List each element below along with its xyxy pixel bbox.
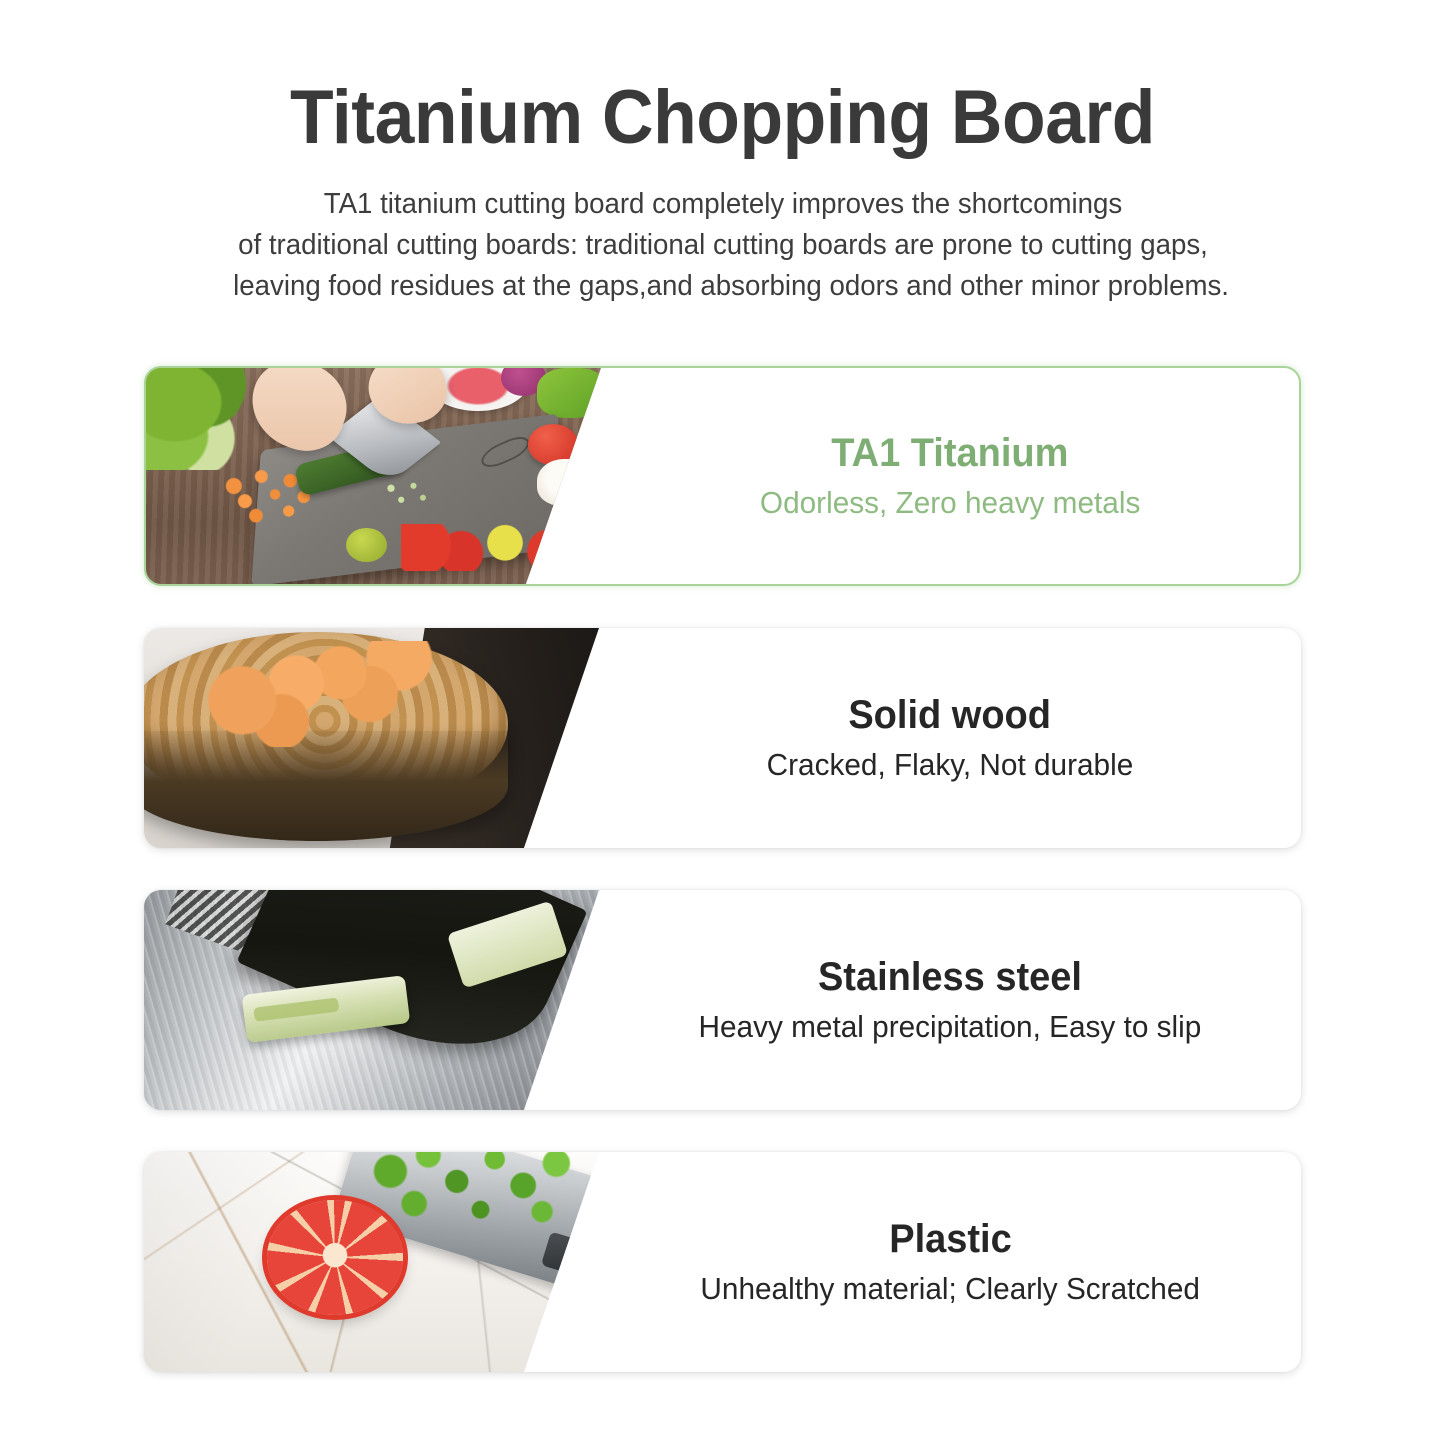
subtitle-line-2: of traditional cutting boards: tradition… — [233, 225, 1213, 266]
comparison-card-list: TA1 Titanium Odorless, Zero heavy metals… — [0, 366, 1445, 1414]
cherry-tomatoes-shape — [401, 524, 601, 572]
card-text-solid-wood: Solid wood Cracked, Flaky, Not durable — [599, 628, 1301, 848]
subtitle-line-3: leaving food residues at the gaps,and ab… — [233, 266, 1213, 307]
comparison-card-solid-wood[interactable]: Solid wood Cracked, Flaky, Not durable — [144, 628, 1301, 848]
card-text-ta1-titanium: TA1 Titanium Odorless, Zero heavy metals — [601, 368, 1299, 584]
knife-on-stainless-steel-photo — [144, 890, 599, 1110]
product-infographic: Titanium Chopping Board TA1 titanium cut… — [0, 0, 1445, 1445]
wood-log-carrot-slices-photo — [144, 628, 599, 848]
subtitle-line-1: TA1 titanium cutting board completely im… — [233, 184, 1213, 225]
card-text-stainless-steel: Stainless steel Heavy metal precipitatio… — [599, 890, 1301, 1110]
card-subtitle: Heavy metal precipitation, Easy to slip — [699, 1007, 1202, 1047]
page-title: Titanium Chopping Board — [43, 78, 1401, 158]
carrot-rounds-shape — [208, 641, 454, 747]
card-text-plastic: Plastic Unhealthy material; Clearly Scra… — [599, 1152, 1301, 1372]
card-title: Solid wood — [849, 691, 1052, 740]
card-title: TA1 Titanium — [831, 429, 1068, 478]
leek-piece-front-shape — [242, 975, 410, 1043]
green-pepper-shape — [537, 368, 601, 418]
card-subtitle: Odorless, Zero heavy metals — [760, 483, 1140, 523]
tomato-scallions-plastic-board-photo — [144, 1152, 599, 1372]
comparison-card-ta1-titanium[interactable]: TA1 Titanium Odorless, Zero heavy metals — [144, 366, 1301, 586]
leafy-greens-shape — [146, 368, 255, 470]
comparison-card-stainless-steel[interactable]: Stainless steel Heavy metal precipitatio… — [144, 890, 1301, 1110]
halved-tomato-shape — [267, 1200, 404, 1314]
header: Titanium Chopping Board TA1 titanium cut… — [0, 0, 1445, 308]
card-title: Stainless steel — [818, 953, 1082, 1002]
page-subtitle: TA1 titanium cutting board completely im… — [233, 184, 1213, 308]
card-title: Plastic — [889, 1215, 1012, 1264]
cucumber-slices-shape — [374, 476, 442, 511]
titanium-board-vegetables-photo — [146, 368, 601, 584]
garlic-shape — [537, 459, 596, 507]
tomato-shape — [528, 424, 578, 465]
comparison-card-plastic[interactable]: Plastic Unhealthy material; Clearly Scra… — [144, 1152, 1301, 1372]
chopped-scallions-shape — [362, 1152, 599, 1242]
card-subtitle: Cracked, Flaky, Not durable — [767, 745, 1134, 785]
card-subtitle: Unhealthy material; Clearly Scratched — [700, 1269, 1200, 1309]
